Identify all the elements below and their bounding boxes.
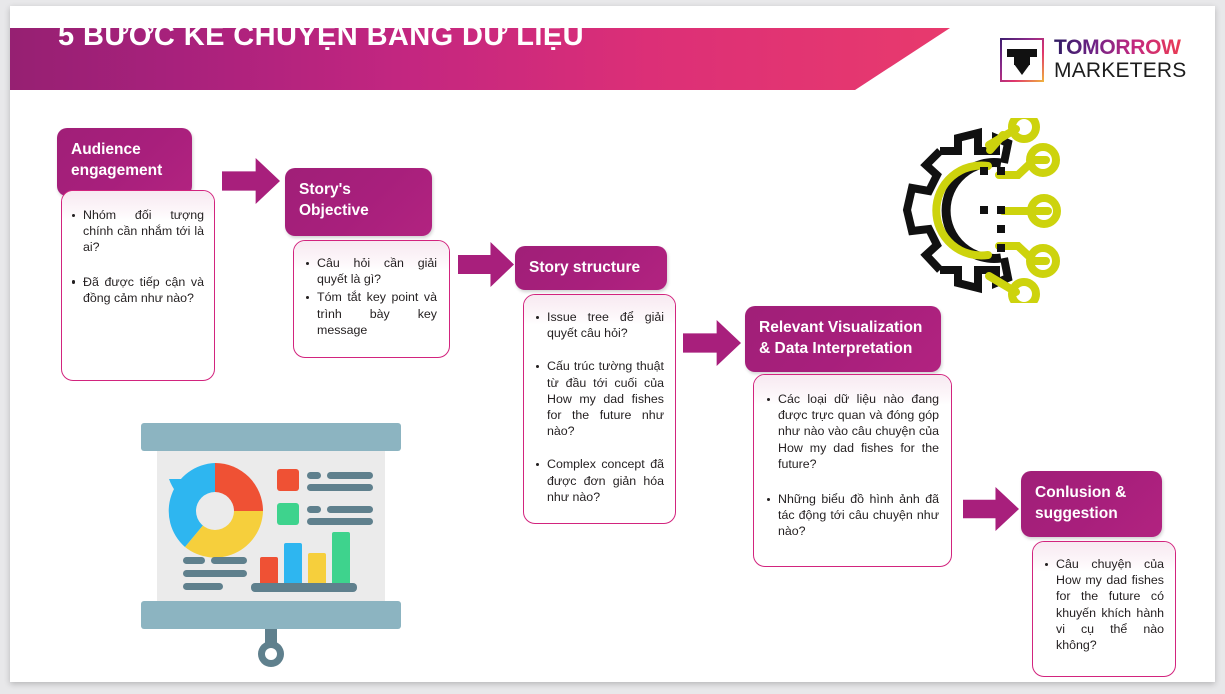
step-card-conlusion-suggestion[interactable]: Conlusion & suggestion Câu chuyện của Ho… [1021,471,1176,677]
step-body-relevant-visualization: Các loại dữ liệu nào đang được trực quan… [753,374,952,567]
logo-line1: TOMORROW [1054,37,1187,59]
tomorrow-marketers-logo-icon [1000,38,1044,82]
step-card-story-structure[interactable]: Story structure Issue tree để giải quyết… [515,246,676,524]
logo-line2: MARKETERS [1054,59,1187,82]
bullet-item: Đã được tiếp cận và đồng cảm như nào? [70,274,204,306]
step-card-audience-engagement[interactable]: Audience engagement Nhóm đối tượng chính… [57,128,215,381]
brand-logo: TOMORROW MARKETERS [1000,36,1200,88]
gear-network-icon [896,118,1076,303]
bullet-item: Câu chuyện của How my dad fishes for the… [1043,556,1164,653]
page-title: 5 BƯỚC KỂ CHUYỆN BẰNG DỮ LIỆU [58,6,584,68]
slide-canvas: 5 BƯỚC KỂ CHUYỆN BẰNG DỮ LIỆU TOMORROW M… [10,6,1215,682]
step-title-conlusion-suggestion: Conlusion & suggestion [1021,471,1162,537]
bullet-item: Issue tree để giải quyết câu hỏi? [534,309,664,341]
bullet-item: Complex concept đã được đơn giản hóa như… [534,456,664,505]
presentation-chart-board-icon [137,419,405,669]
bullet-item: Câu hỏi cần giải quyết là gì? [304,255,437,287]
bullet-item: Cấu trúc tường thuật từ đầu tới cuối của… [534,358,664,439]
step-body-story-structure: Issue tree để giải quyết câu hỏi? Cấu tr… [523,294,676,524]
arrow-step2-to-step3 [458,242,514,287]
bullet-item: Những biểu đồ hình ảnh đã tác động tới c… [765,491,939,540]
bullet-item: Các loại dữ liệu nào đang được trực quan… [765,391,939,472]
step-title-storys-objective: Story's Objective [285,168,432,236]
arrow-step1-to-step2 [222,158,280,204]
step-title-relevant-visualization: Relevant Visualization & Data Interpreta… [745,306,941,372]
step-body-conlusion-suggestion: Câu chuyện của How my dad fishes for the… [1032,541,1176,677]
step-title-story-structure: Story structure [515,246,667,290]
step-body-storys-objective: Câu hỏi cần giải quyết là gì? Tóm tắt ke… [293,240,450,358]
arrow-step3-to-step4 [683,320,741,366]
bullet-item: Tóm tắt key point và trình bày key messa… [304,289,437,338]
step-title-audience-engagement: Audience engagement [57,128,192,196]
step-body-audience-engagement: Nhóm đối tượng chính cần nhắm tới là ai?… [61,190,215,381]
step-card-relevant-visualization[interactable]: Relevant Visualization & Data Interpreta… [745,306,952,567]
arrow-step4-to-step5 [963,487,1019,531]
step-card-storys-objective[interactable]: Story's Objective Câu hỏi cần giải quyết… [285,168,450,358]
bullet-item: Nhóm đối tượng chính cần nhắm tới là ai? [70,207,204,256]
